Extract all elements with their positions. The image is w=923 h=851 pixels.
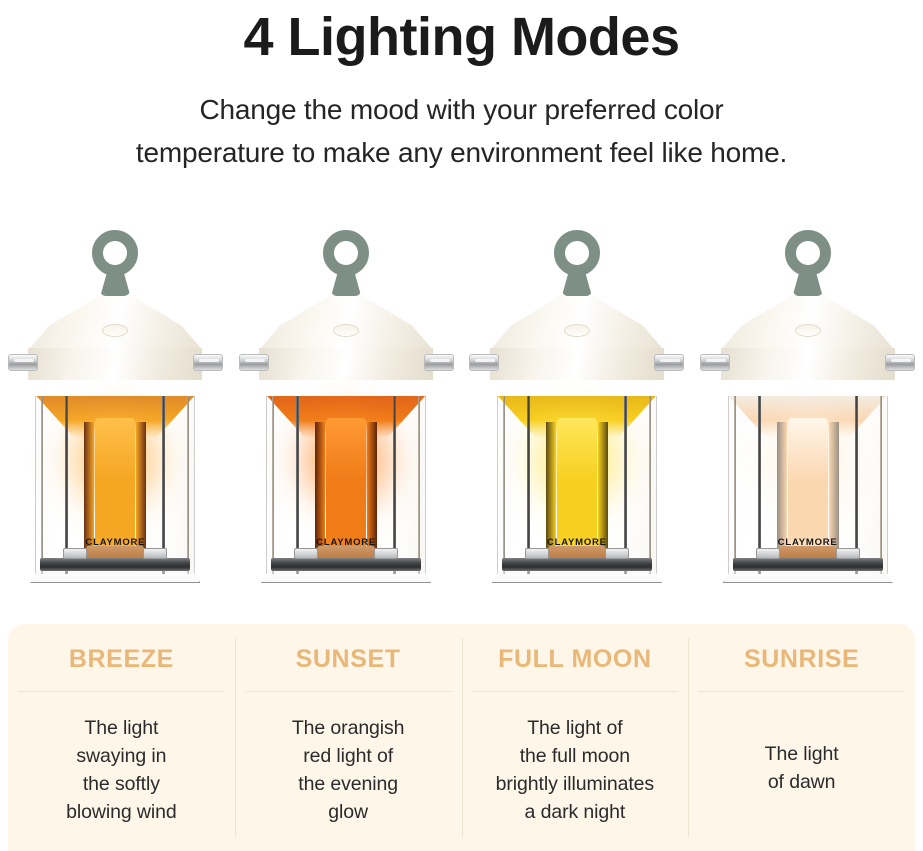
lantern-base-rail [492,571,662,583]
mode-title-breeze: BREEZE [69,646,174,674]
side-clip-left-icon [8,354,38,371]
lantern-product-image[interactable]: CLAYMORE [700,228,915,596]
side-clip-right-icon [654,354,684,371]
lantern-base-plate [271,558,421,571]
base-clip-left [756,548,780,559]
lantern-base-rail [723,571,893,583]
subtitle-line-2: temperature to make any environment feel… [136,137,787,168]
lantern-cap-band [259,348,433,380]
lantern-base-plate [502,558,652,571]
base-clip-right [143,548,167,559]
lantern-base-plate [40,558,190,571]
lantern-product-image[interactable]: CLAYMORE [239,228,454,596]
lantern-cap-band [721,348,895,380]
mode-column-full-moon[interactable]: FULL MOONThe light ofthe full moonbright… [462,624,689,851]
lantern-base-rail [30,571,200,583]
lantern-gallery: CLAYMORE [0,228,923,608]
mode-title-sunrise: SUNRISE [744,646,859,674]
lantern-base-plate [733,558,883,571]
lantern-cap-band [490,348,664,380]
side-clip-left-icon [700,354,730,371]
frame-post-outer-left [272,396,274,574]
mode-description-sunset: The orangishred light ofthe eveningglow [292,714,405,827]
mode-divider [18,691,225,692]
lantern-vent-dot [564,324,590,337]
base-clip-left [525,548,549,559]
page-title: 4 Lighting Modes [0,6,923,70]
lantern-product-image[interactable]: CLAYMORE [8,228,223,596]
frame-post-outer-right [418,396,420,574]
mode-description-sunrise: The lightof dawn [765,740,839,797]
base-clip-left [294,548,318,559]
side-clip-right-icon [424,354,454,371]
side-clip-left-icon [469,354,499,371]
mode-title-full-moon: FULL MOON [498,646,652,674]
mode-description-breeze: The lightswaying inthe softlyblowing win… [66,714,176,827]
page-header: 4 Lighting Modes Change the mood with yo… [0,0,923,175]
mode-divider [472,691,679,692]
subtitle-line-1: Change the mood with your preferred colo… [199,94,723,125]
hanging-ring-icon [554,230,600,276]
hanging-ring-icon [92,230,138,276]
lantern-base-rail [261,571,431,583]
side-clip-right-icon [885,354,915,371]
mode-title-sunset: SUNSET [296,646,401,674]
lantern-cell-sunrise[interactable]: CLAYMORE [692,228,923,608]
side-clip-right-icon [193,354,223,371]
hanging-ring-icon [785,230,831,276]
lantern-vent-dot [795,324,821,337]
base-clip-left [63,548,87,559]
mode-divider [245,691,452,692]
lantern-cell-full-moon[interactable]: CLAYMORE [462,228,693,608]
frame-post-outer-left [734,396,736,574]
base-clip-right [374,548,398,559]
mode-description-full-moon: The light ofthe full moonbrightly illumi… [496,714,654,827]
mode-column-sunrise[interactable]: SUNRISEThe lightof dawn [688,624,915,851]
hanging-ring-icon [323,230,369,276]
mode-column-breeze[interactable]: BREEZEThe lightswaying inthe softlyblowi… [8,624,235,851]
base-clip-right [836,548,860,559]
lantern-product-image[interactable]: CLAYMORE [469,228,684,596]
page-subtitle: Change the mood with your preferred colo… [0,88,923,175]
frame-post-outer-left [41,396,43,574]
mode-description-panel: BREEZEThe lightswaying inthe softlyblowi… [8,624,915,851]
frame-post-outer-right [649,396,651,574]
lantern-vent-dot [102,324,128,337]
lantern-cell-breeze[interactable]: CLAYMORE [0,228,231,608]
lantern-cap-band [28,348,202,380]
frame-post-outer-right [187,396,189,574]
mode-divider [698,691,905,692]
frame-post-outer-right [880,396,882,574]
base-clip-right [605,548,629,559]
lantern-vent-dot [333,324,359,337]
side-clip-left-icon [239,354,269,371]
mode-column-sunset[interactable]: SUNSETThe orangishred light ofthe evenin… [235,624,462,851]
lantern-cell-sunset[interactable]: CLAYMORE [231,228,462,608]
frame-post-outer-left [503,396,505,574]
